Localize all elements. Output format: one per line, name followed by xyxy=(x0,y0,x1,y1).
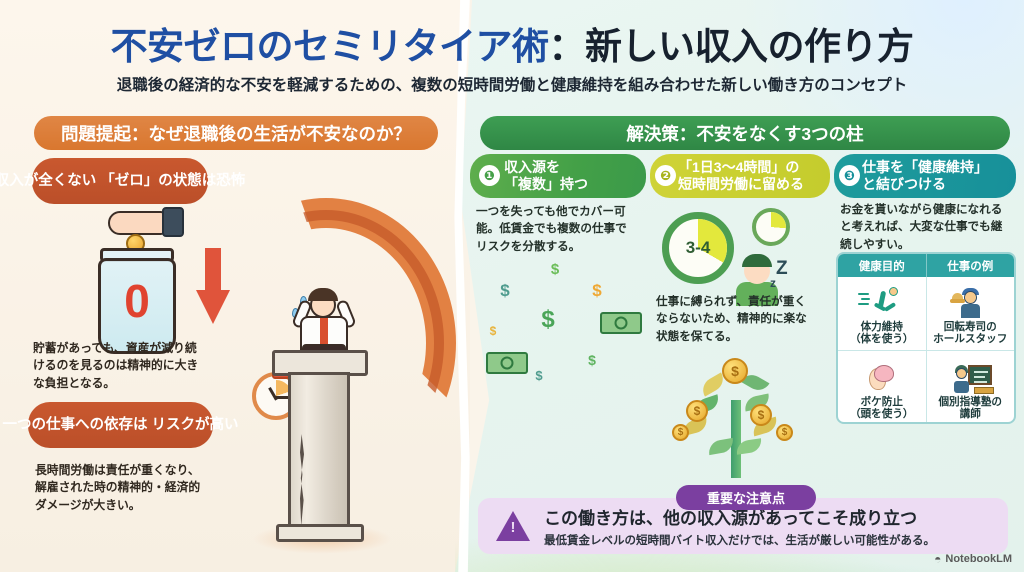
left-callout-zero-income: 収入が全くない 「ゼロ」の状態は恐怖 xyxy=(32,158,208,204)
pillar-2-header: ❷ 「1日3〜4時間」の 短時間労働に留める xyxy=(650,154,830,198)
pillar-3-header: ❸ 仕事を「健康維持」 と結びつける xyxy=(834,154,1016,198)
pillar-2-body: 仕事に縛られず、責任が重く ならないため、精神的に楽な 状態を保てる。 xyxy=(656,293,828,345)
tree-coin-icon: $ xyxy=(776,424,793,441)
pillar-card-3: ❸ 仕事を「健康維持」 と結びつける xyxy=(834,154,1016,198)
table-cell-job-text: 個別指導塾の 講師 xyxy=(938,396,1002,421)
table-cell-job: 個別指導塾の 講師 xyxy=(927,351,1015,424)
table-cell-purpose-text: 体力維持 （体を使う） xyxy=(850,321,914,346)
table-cell-job: 回転寿司の ホールスタッフ xyxy=(927,277,1015,350)
hand-icon xyxy=(108,205,184,239)
right-section-header: 解決策：不安をなくす3つの柱 xyxy=(480,116,1010,150)
jar-zero-value: 0 xyxy=(98,278,176,324)
small-clock-icon xyxy=(752,208,790,246)
clock-icon: 3-4 xyxy=(662,212,734,284)
table-row: ボケ防止 （頭を使う） 個別指導塾の 講師 xyxy=(838,351,1014,424)
banknote-icon xyxy=(600,312,642,334)
gear-dollar-icon: $ xyxy=(576,344,608,376)
chalkboard-icon xyxy=(968,365,992,385)
gear-dollar-icon: $ xyxy=(578,272,616,310)
gear-dollar-icon: $ xyxy=(520,292,576,348)
tree-coin-icon: $ xyxy=(672,424,689,441)
pillar-2-number: ❷ xyxy=(655,165,676,186)
title-primary: 不安ゼロのセミリタイア術 xyxy=(111,26,549,67)
notebooklm-label: NotebookLM xyxy=(945,553,1012,565)
waiter-icon xyxy=(927,285,1015,321)
infographic-canvas: 不安ゼロのセミリタイア術：新しい収入の作り方 退職後の経済的な不安を軽減するため… xyxy=(0,0,1024,572)
gear-dollar-icon: $ xyxy=(486,272,524,310)
warning-icon xyxy=(496,511,530,541)
health-job-table: 健康目的 仕事の例 体力維持 （体を使う） 回転寿司の ホールスタ xyxy=(836,252,1016,424)
title-secondary: ：新しい収入の作り方 xyxy=(549,26,914,67)
table-cell-purpose: ボケ防止 （頭を使う） xyxy=(838,351,927,424)
left-callout-single-job-risk: 一つの仕事への依存は リスクが高い xyxy=(28,402,213,448)
teacher-icon xyxy=(927,360,1015,396)
pillar-1-number: ❶ xyxy=(479,165,500,186)
notebooklm-watermark: ◓ NotebookLM xyxy=(934,552,1012,566)
table-cell-purpose: 体力維持 （体を使う） xyxy=(838,277,927,350)
page-subtitle: 退職後の経済的な不安を軽減するための、複数の短時間労働と健康維持を組み合わせた新… xyxy=(0,73,1024,95)
pillar-1-header: ❶ 収入源を 「複数」持つ xyxy=(470,154,646,198)
page-title: 不安ゼロのセミリタイア術：新しい収入の作り方 xyxy=(0,16,1024,70)
banknote-icon xyxy=(486,352,528,374)
pillar-card-2: ❷ 「1日3〜4時間」の 短時間労働に留める xyxy=(650,154,830,198)
left-text-savings: 貯蓄があっても、資産が減り続 けるのを見るのは精神的に大き な負担となる。 xyxy=(33,340,215,392)
pillar-3-number: ❸ xyxy=(839,165,860,186)
pillar-base-icon xyxy=(276,524,364,542)
left-text-risk: 長時間労働は責任が重くなり、 解雇された時の精神的・経済的 ダメージが大きい。 xyxy=(35,462,220,514)
zzz-icon: Z xyxy=(776,258,788,280)
table-cell-job-text: 回転寿司の ホールスタッフ xyxy=(933,321,1007,346)
caution-sub-text: 最低賃金レベルの短時間バイト収入だけでは、生活が厳しい可能性がある。 xyxy=(544,532,935,548)
zzz-icon: z xyxy=(770,276,776,290)
coin-dollar-icon: $ xyxy=(480,318,506,344)
notebooklm-logo-icon: ◓ xyxy=(934,552,941,566)
table-cell-purpose-text: ボケ防止 （頭を使う） xyxy=(850,396,914,421)
cracking-pillar-icon xyxy=(288,372,350,534)
runner-icon xyxy=(838,285,926,321)
pillar-1-body: 一つを失っても他でカバー可 能。低賃金でも複数の仕事で リスクを分散する。 xyxy=(476,203,646,255)
left-section-header: 問題提起：なぜ退職後の生活が不安なのか？ xyxy=(34,116,438,150)
clock-hours-label: 3-4 xyxy=(669,219,727,277)
table-header-job: 仕事の例 xyxy=(927,254,1015,277)
pillar-1-title: 収入源を 「複数」持つ xyxy=(504,159,588,193)
tree-coin-icon: $ xyxy=(722,358,748,384)
down-arrow-icon xyxy=(196,248,230,326)
tree-coin-icon: $ xyxy=(686,400,708,422)
table-row: 体力維持 （体を使う） 回転寿司の ホールスタッフ xyxy=(838,277,1014,351)
table-header-row: 健康目的 仕事の例 xyxy=(838,254,1014,277)
gear-dollar-icon: $ xyxy=(538,252,572,286)
pillar-3-title: 仕事を「健康維持」 と結びつける xyxy=(862,159,988,193)
tree-coin-icon: $ xyxy=(750,404,772,426)
brain-icon xyxy=(838,360,926,396)
caution-tag: 重要な注意点 xyxy=(676,485,816,510)
pillar-2-title: 「1日3〜4時間」の 短時間労働に留める xyxy=(678,159,804,193)
table-header-purpose: 健康目的 xyxy=(838,254,927,277)
pillar-3-body: お金を貰いながら健康になれる と考えれば、大変な仕事でも継 続しやすい。 xyxy=(840,201,1016,253)
gear-dollar-icon: $ xyxy=(524,360,554,390)
pillar-card-1: ❶ 収入源を 「複数」持つ xyxy=(470,154,646,198)
